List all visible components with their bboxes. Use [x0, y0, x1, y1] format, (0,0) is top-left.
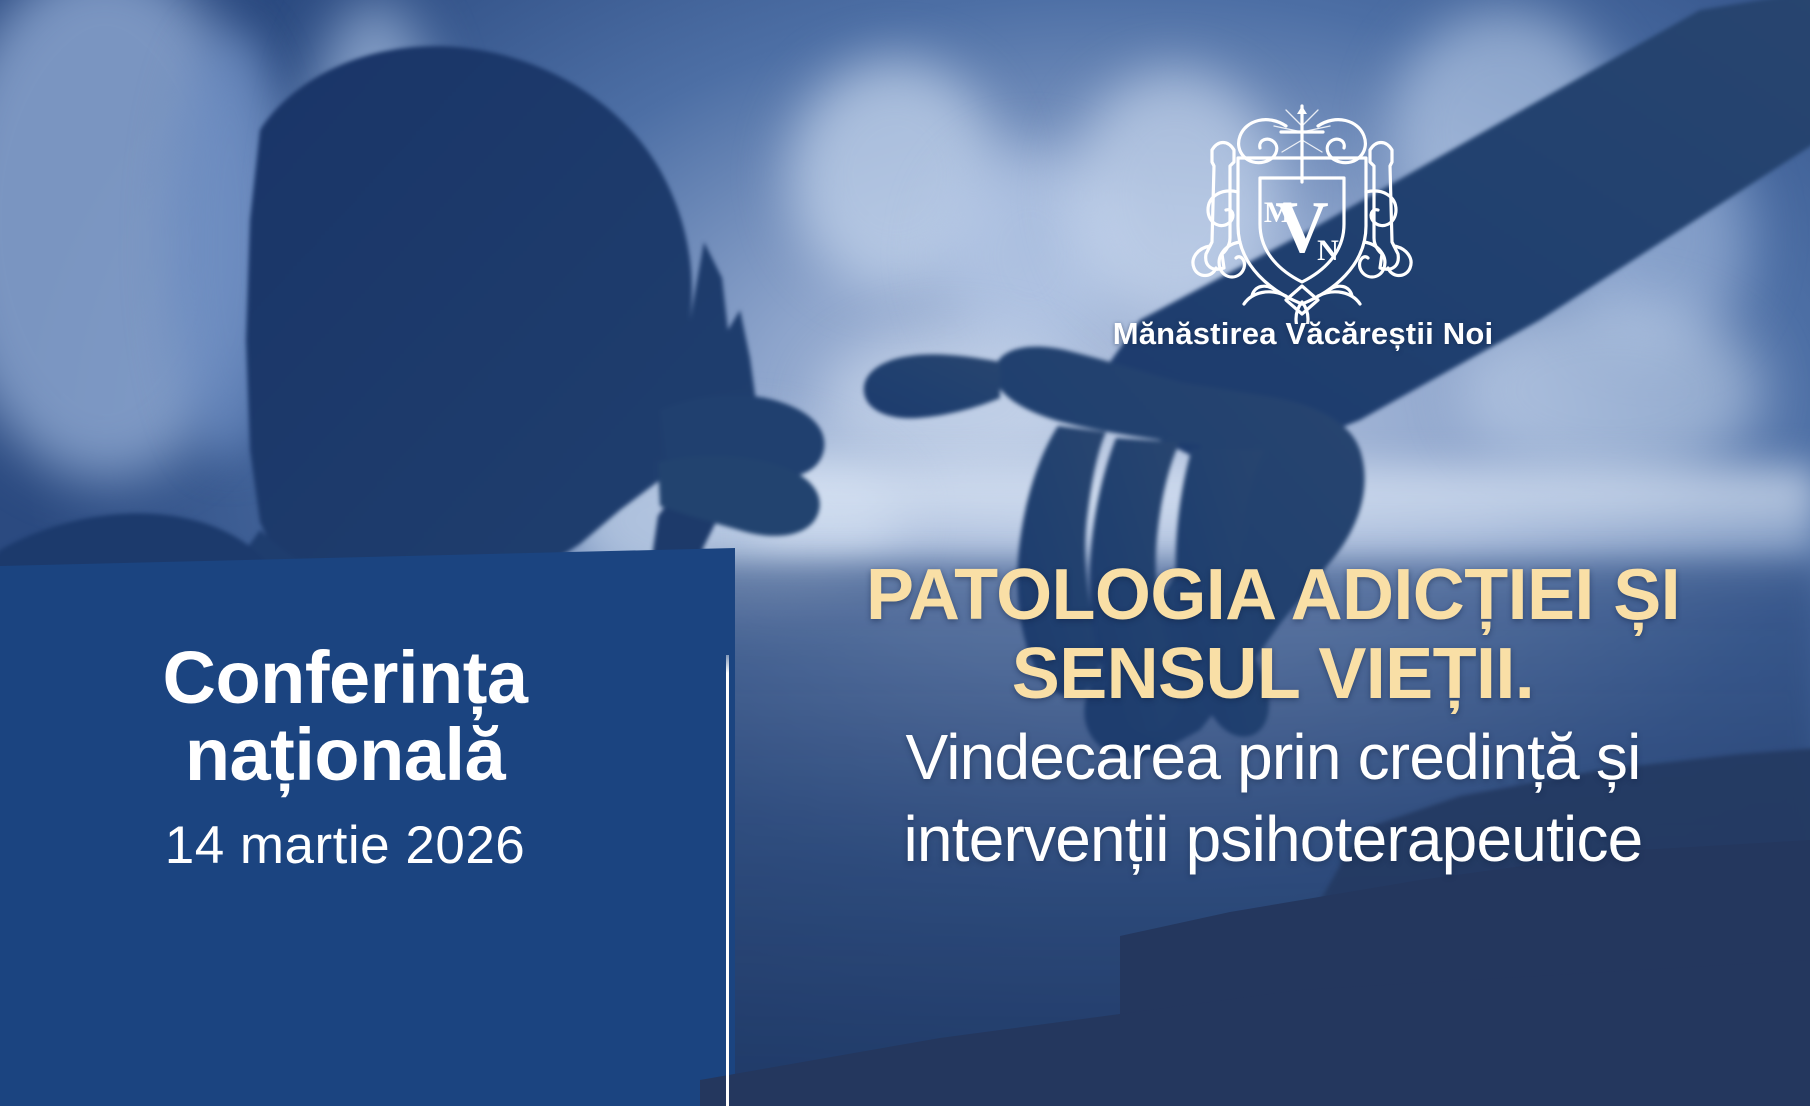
- event-info-block: Conferința națională 14 martie 2026: [0, 640, 690, 876]
- logo-monogram: M V N: [1264, 187, 1339, 269]
- vertical-divider: [726, 655, 729, 1106]
- theme-title-line-2: SENSUL VIEȚII.: [742, 635, 1804, 714]
- theme-title-line-1: PATOLOGIA ADICȚIEI ȘI: [742, 556, 1804, 635]
- conference-poster: M V N Mănăstirea Văcăreștii Noi Conferin…: [0, 0, 1810, 1106]
- theme-subtitle-line-2: intervenții psihoterapeutice: [742, 802, 1804, 878]
- cross-icon: [1274, 106, 1330, 182]
- event-date: 14 martie 2026: [0, 817, 690, 875]
- event-title-line-2: națională: [0, 715, 690, 795]
- event-title-line-1: Conferința: [0, 640, 690, 715]
- conference-theme-block: PATOLOGIA ADICȚIEI ȘI SENSUL VIEȚII. Vin…: [742, 556, 1804, 877]
- monastery-logo: M V N: [1182, 96, 1422, 324]
- theme-subtitle-line-1: Vindecarea prin credință și: [742, 720, 1804, 796]
- svg-text:N: N: [1317, 234, 1339, 267]
- organization-name: Mănăstirea Văcăreștii Noi: [1058, 316, 1548, 352]
